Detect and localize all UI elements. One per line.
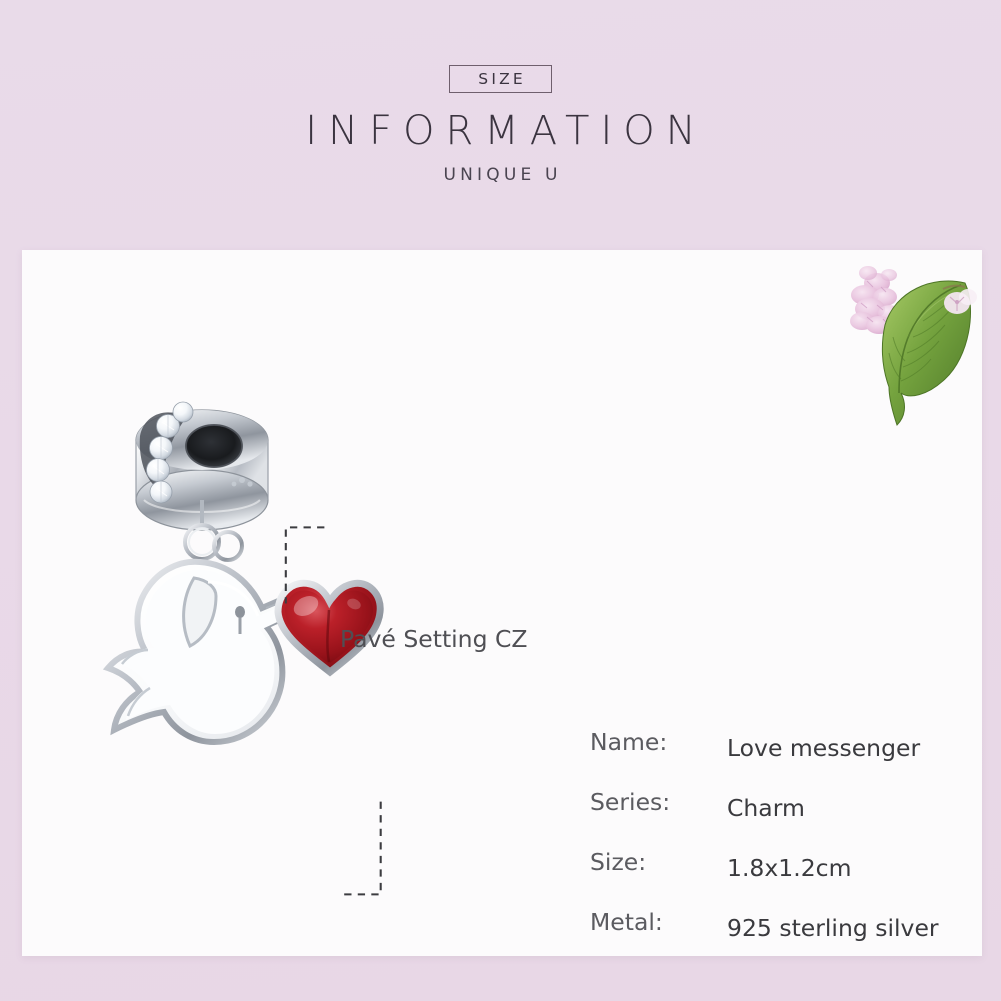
page-subtitle: UNIQUE U bbox=[0, 165, 1001, 185]
spec-row-size: Size: 1.8x1.2cm bbox=[590, 848, 980, 908]
spec-row-name: Name: Love messenger bbox=[590, 728, 980, 788]
spec-value-series: Charm bbox=[727, 788, 805, 828]
page-title: INFORMATION bbox=[0, 107, 1001, 155]
spec-label-metal: Metal: bbox=[590, 908, 663, 936]
product-image bbox=[82, 350, 502, 870]
spec-value-name: Love messenger bbox=[727, 728, 920, 768]
size-badge: SIZE bbox=[449, 65, 552, 93]
annotation-label-pave-setting-cz: Pavé Setting CZ bbox=[340, 625, 527, 653]
information-card: Pavé Setting CZ Enamel Process Name: Lov… bbox=[22, 250, 982, 956]
page-root: SIZE INFORMATION UNIQUE U bbox=[0, 0, 1001, 1001]
spec-label-size: Size: bbox=[590, 848, 646, 876]
spec-label-name: Name: bbox=[590, 728, 667, 756]
product-spec-table: Name: Love messenger Series: Charm Size:… bbox=[590, 728, 980, 956]
dove-part bbox=[108, 562, 296, 742]
spec-value-metal: 925 sterling silver bbox=[727, 908, 939, 948]
spec-value-size: 1.8x1.2cm bbox=[727, 848, 851, 888]
lilac-branch-icon bbox=[837, 253, 982, 428]
spec-row-metal: Metal: 925 sterling silver bbox=[590, 908, 980, 956]
header: SIZE INFORMATION UNIQUE U bbox=[0, 0, 1001, 250]
spec-label-series: Series: bbox=[590, 788, 670, 816]
spec-row-series: Series: Charm bbox=[590, 788, 980, 848]
